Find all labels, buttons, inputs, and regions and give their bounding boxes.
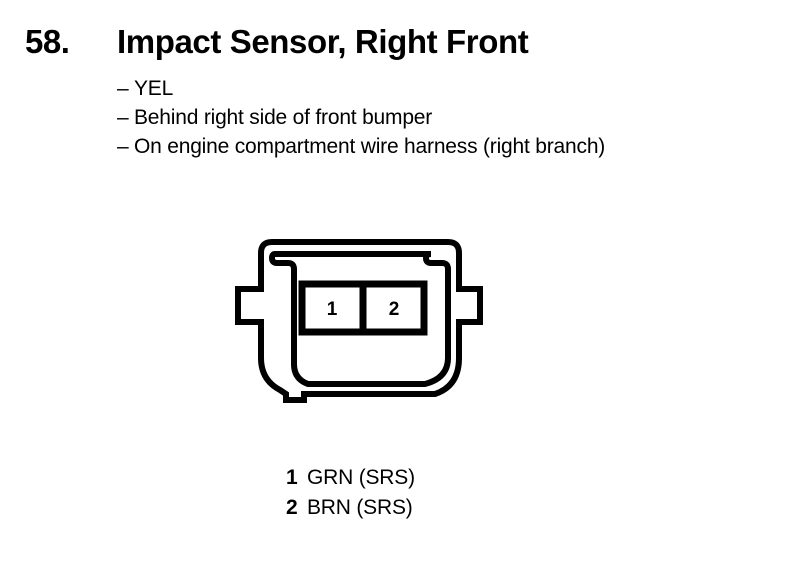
- list-item-label: YEL: [134, 77, 173, 100]
- cavity-number-1: 1: [327, 299, 338, 320]
- legend-wire-label: GRN (SRS): [307, 466, 415, 489]
- legend-row: 1GRN (SRS): [286, 463, 586, 493]
- detail-list: –YEL –Behind right side of front bumper …: [117, 74, 777, 161]
- legend-wire-label: BRN (SRS): [307, 496, 413, 519]
- dash-bullet: –: [117, 132, 134, 161]
- cavity-number-2: 2: [389, 299, 400, 320]
- diagram-page: 58. Impact Sensor, Right Front –YEL –Beh…: [0, 0, 800, 580]
- connector-diagram: 1 2: [228, 218, 490, 413]
- connector-outline-svg: 1 2: [228, 218, 490, 413]
- item-number: 58.: [25, 22, 69, 62]
- list-item: –Behind right side of front bumper: [117, 103, 777, 132]
- legend-pin-number: 2: [286, 493, 307, 523]
- pin-legend: 1GRN (SRS) 2BRN (SRS): [286, 463, 586, 523]
- list-item-label: On engine compartment wire harness (righ…: [134, 135, 605, 158]
- list-item-label: Behind right side of front bumper: [134, 106, 432, 129]
- legend-row: 2BRN (SRS): [286, 493, 586, 523]
- legend-pin-number: 1: [286, 463, 307, 493]
- page-title: Impact Sensor, Right Front: [117, 22, 528, 62]
- list-item: –On engine compartment wire harness (rig…: [117, 132, 777, 161]
- list-item: –YEL: [117, 74, 777, 103]
- dash-bullet: –: [117, 74, 134, 103]
- dash-bullet: –: [117, 103, 134, 132]
